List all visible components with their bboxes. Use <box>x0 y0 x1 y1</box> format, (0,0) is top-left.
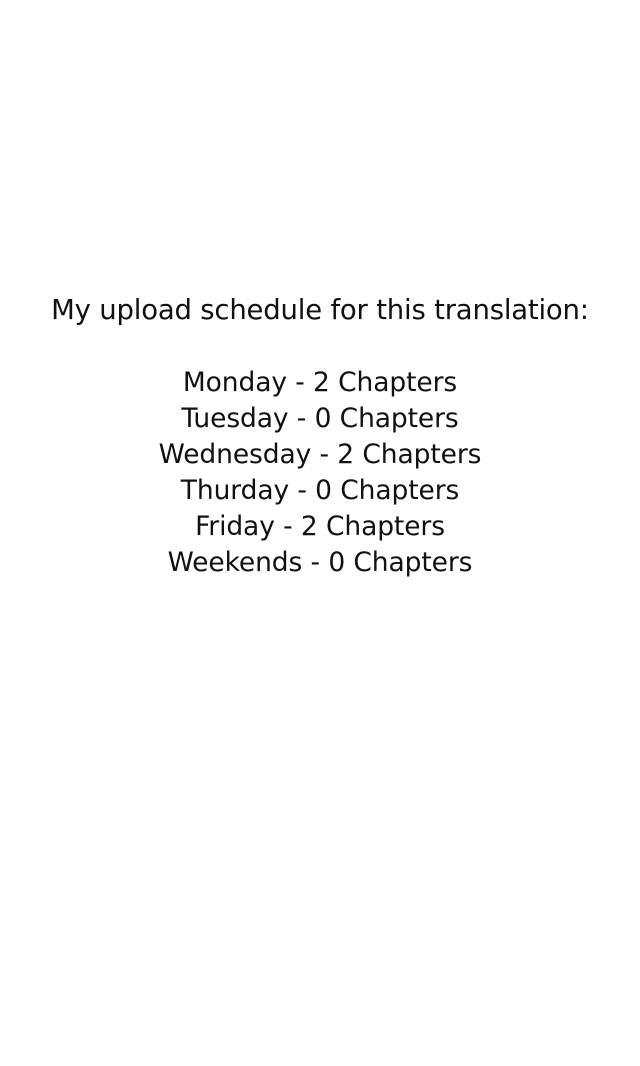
schedule-list-item: Wednesday - 2 Chapters <box>0 437 640 473</box>
schedule-list-item: Weekends - 0 Chapters <box>0 545 640 581</box>
schedule-list-item: Tuesday - 0 Chapters <box>0 401 640 437</box>
schedule-list-item: Monday - 2 Chapters <box>0 365 640 401</box>
upload-schedule-note: My upload schedule for this translation:… <box>0 292 640 581</box>
schedule-list-item: Thurday - 0 Chapters <box>0 473 640 509</box>
note-heading: My upload schedule for this translation: <box>0 292 640 328</box>
schedule-list: Monday - 2 Chapters Tuesday - 0 Chapters… <box>0 365 640 581</box>
page-canvas: My upload schedule for this translation:… <box>0 0 640 1066</box>
schedule-list-item: Friday - 2 Chapters <box>0 509 640 545</box>
